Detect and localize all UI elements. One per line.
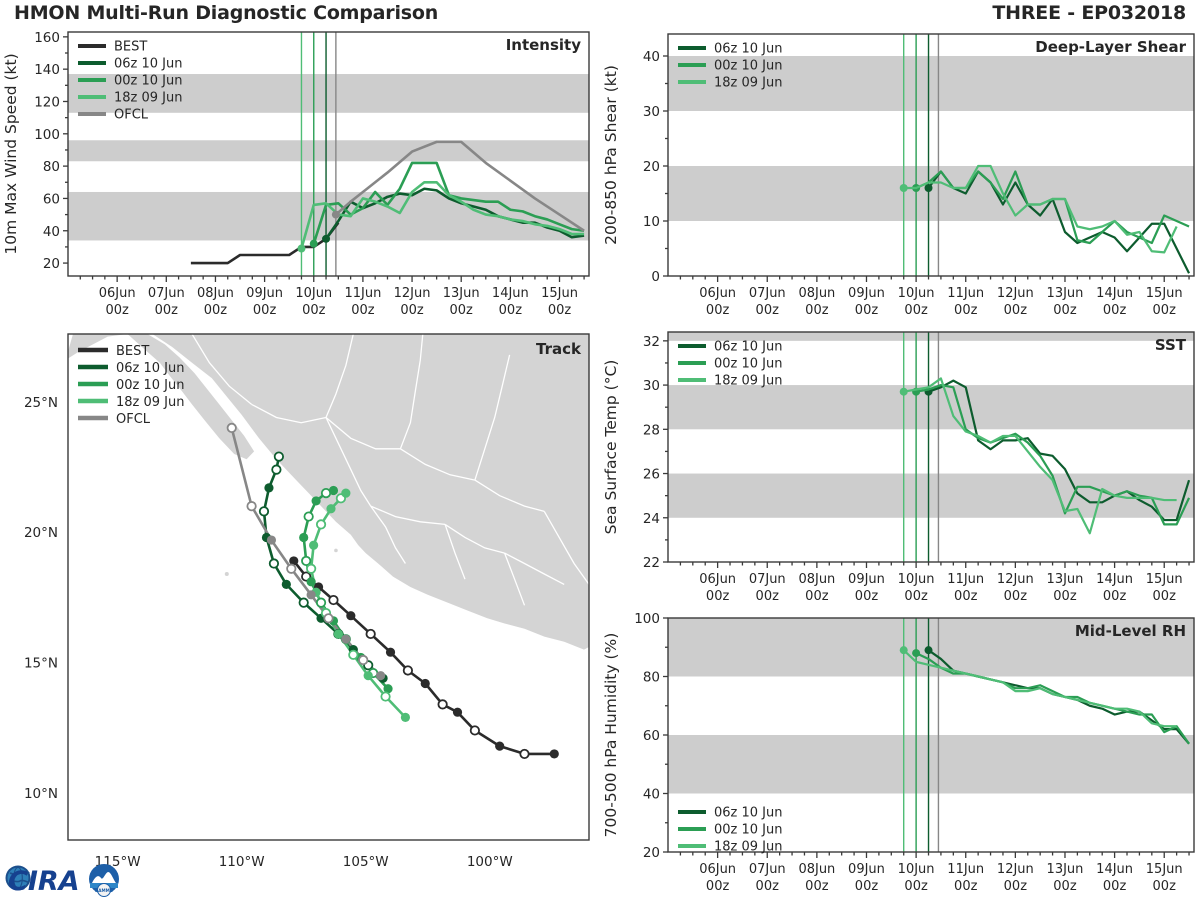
- track-marker-open: [228, 424, 236, 432]
- y-tick-label: 20: [643, 845, 660, 861]
- x-tick-label: 12Jun: [997, 572, 1034, 587]
- y-axis-label: 10m Max Wind Speed (kt): [2, 53, 20, 254]
- x-tick-label: 07Jun: [749, 286, 786, 301]
- x-tick-label: 06Jun: [699, 862, 736, 877]
- track-marker-filled: [364, 671, 373, 680]
- x-tick-label: 11Jun: [947, 286, 984, 301]
- x-tick-sublabel: 00z: [1053, 303, 1077, 318]
- track-marker-open: [272, 465, 280, 473]
- track-marker-open: [404, 666, 412, 674]
- legend-label: 00z 10 Jun: [114, 74, 183, 89]
- panel-title: SST: [1155, 336, 1187, 354]
- x-tick-sublabel: 00z: [1053, 879, 1077, 894]
- y-tick-label: 20: [643, 159, 660, 175]
- track-marker-filled: [307, 590, 316, 599]
- track-panel: 25°N20°N15°N10°N115°W110°W105°W100°WTrac…: [0, 326, 595, 886]
- lat-tick-label: 20°N: [24, 525, 58, 541]
- x-tick-label: 15Jun: [1146, 862, 1183, 877]
- x-tick-label: 07Jun: [749, 862, 786, 877]
- legend-label: 00z 10 Jun: [714, 59, 783, 74]
- x-tick-sublabel: 00z: [548, 303, 572, 318]
- cira-logo: CIRA RAMMB: [4, 852, 128, 898]
- y-axis-label: 700-500 hPa Humidity (%): [602, 633, 620, 838]
- x-tick-sublabel: 00z: [756, 879, 780, 894]
- x-tick-sublabel: 00z: [105, 303, 129, 318]
- x-tick-label: 10Jun: [295, 286, 332, 301]
- series-start-marker: [912, 649, 920, 657]
- track-marker-filled: [311, 496, 320, 505]
- track-marker-filled: [299, 533, 308, 542]
- y-tick-label: 40: [643, 49, 660, 65]
- track-marker-filled: [267, 535, 276, 544]
- x-tick-label: 08Jun: [798, 286, 835, 301]
- track-marker-open: [471, 726, 479, 734]
- y-tick-label: 26: [643, 467, 660, 483]
- legend-label: 00z 10 Jun: [714, 823, 783, 838]
- lon-tick-label: 110°W: [219, 854, 265, 870]
- y-tick-label: 40: [643, 787, 660, 803]
- x-tick-sublabel: 00z: [302, 303, 326, 318]
- page-title-right: THREE - EP032018: [992, 2, 1186, 24]
- track-marker-open: [304, 512, 312, 520]
- x-tick-label: 15Jun: [541, 286, 578, 301]
- x-tick-sublabel: 00z: [1153, 879, 1177, 894]
- series-start-marker: [925, 646, 933, 654]
- legend-label: 06z 10 Jun: [714, 806, 783, 821]
- shear-chart: 010203040200-850 hPa Shear (kt)06Jun00z0…: [596, 24, 1200, 324]
- track-marker-filled: [401, 713, 410, 722]
- x-tick-sublabel: 00z: [450, 303, 474, 318]
- rammb-badge: RAMMB: [89, 864, 119, 897]
- y-tick-label: 22: [643, 555, 660, 571]
- legend-label: OFCL: [116, 412, 151, 427]
- x-tick-label: 14Jun: [1096, 286, 1133, 301]
- x-tick-sublabel: 00z: [1103, 589, 1127, 604]
- track-marker-open: [324, 614, 332, 622]
- x-tick-label: 14Jun: [492, 286, 529, 301]
- x-tick-sublabel: 00z: [1004, 303, 1028, 318]
- track-marker-open: [317, 598, 325, 606]
- x-tick-sublabel: 00z: [805, 589, 829, 604]
- series-start-marker: [900, 646, 908, 654]
- x-tick-sublabel: 00z: [1103, 303, 1127, 318]
- track-marker-filled: [309, 541, 318, 550]
- y-tick-label: 30: [643, 378, 660, 394]
- x-tick-sublabel: 00z: [253, 303, 277, 318]
- x-tick-label: 09Jun: [848, 862, 885, 877]
- svg-text:RAMMB: RAMMB: [95, 888, 113, 893]
- y-tick-label: 120: [34, 94, 60, 110]
- lat-tick-label: 15°N: [24, 656, 58, 672]
- y-tick-label: 30: [643, 104, 660, 120]
- x-tick-label: 12Jun: [394, 286, 431, 301]
- legend-label: OFCL: [114, 108, 149, 123]
- track-marker-open: [349, 651, 357, 659]
- x-tick-label: 11Jun: [947, 862, 984, 877]
- x-tick-sublabel: 00z: [1103, 879, 1127, 894]
- track-marker-open: [307, 565, 315, 573]
- x-tick-sublabel: 00z: [706, 879, 730, 894]
- y-tick-label: 60: [643, 728, 660, 744]
- panel-title: Track: [536, 340, 582, 358]
- track-marker-filled: [341, 635, 350, 644]
- x-tick-sublabel: 00z: [954, 879, 978, 894]
- legend-label: 18z 09 Jun: [114, 91, 183, 106]
- track-marker-filled: [307, 577, 316, 586]
- track-marker-open: [520, 750, 528, 758]
- y-tick-label: 140: [34, 62, 60, 78]
- y-tick-label: 20: [43, 256, 60, 272]
- y-tick-label: 100: [634, 611, 660, 627]
- rh-panel: 20406080100700-500 hPa Humidity (%)06Jun…: [596, 610, 1200, 900]
- track-marker-open: [438, 700, 446, 708]
- cira-wordmark: CIRA: [8, 866, 80, 897]
- track-marker-open: [302, 557, 310, 565]
- legend-label: 06z 10 Jun: [714, 42, 783, 57]
- panel-title: Mid-Level RH: [1075, 622, 1186, 640]
- x-tick-label: 15Jun: [1146, 572, 1183, 587]
- island: [334, 549, 338, 553]
- legend-label: BEST: [116, 344, 149, 359]
- series-start-marker: [332, 211, 340, 219]
- x-tick-label: 06Jun: [99, 286, 136, 301]
- track-chart: 25°N20°N15°N10°N115°W110°W105°W100°WTrac…: [0, 326, 595, 886]
- y-tick-label: 80: [43, 159, 60, 175]
- x-tick-sublabel: 00z: [904, 879, 928, 894]
- x-tick-sublabel: 00z: [204, 303, 228, 318]
- y-tick-label: 100: [34, 127, 60, 143]
- x-tick-sublabel: 00z: [756, 589, 780, 604]
- track-marker-open: [366, 630, 374, 638]
- track-marker-filled: [264, 483, 273, 492]
- shaded-band: [668, 735, 1194, 794]
- x-tick-sublabel: 00z: [756, 303, 780, 318]
- legend-label: 18z 09 Jun: [714, 840, 783, 855]
- x-tick-label: 10Jun: [898, 862, 935, 877]
- series-start-marker: [925, 184, 933, 192]
- x-tick-label: 08Jun: [798, 862, 835, 877]
- x-tick-sublabel: 00z: [904, 589, 928, 604]
- x-tick-sublabel: 00z: [351, 303, 375, 318]
- sst-panel: 222426283032Sea Surface Temp (°C)06Jun00…: [596, 324, 1200, 610]
- track-marker-open: [381, 692, 389, 700]
- y-axis-label: Sea Surface Temp (°C): [602, 360, 620, 535]
- track-marker-filled: [495, 742, 504, 751]
- y-tick-label: 28: [643, 422, 660, 438]
- track-marker-open: [329, 596, 337, 604]
- track-marker-filled: [550, 749, 559, 758]
- lon-tick-label: 105°W: [343, 854, 389, 870]
- x-tick-label: 09Jun: [246, 286, 283, 301]
- x-tick-label: 07Jun: [148, 286, 185, 301]
- track-marker-filled: [376, 671, 385, 680]
- x-tick-sublabel: 00z: [855, 589, 879, 604]
- track-marker-filled: [282, 580, 291, 589]
- series-start-marker: [297, 245, 305, 253]
- track-marker-filled: [453, 708, 462, 717]
- x-tick-sublabel: 00z: [855, 303, 879, 318]
- track-marker-open: [270, 559, 278, 567]
- x-tick-sublabel: 00z: [954, 589, 978, 604]
- page-title-left: HMON Multi-Run Diagnostic Comparison: [14, 2, 438, 24]
- x-tick-label: 11Jun: [344, 286, 381, 301]
- track-marker-open: [275, 452, 283, 460]
- y-tick-label: 0: [651, 269, 660, 285]
- legend-label: 06z 10 Jun: [714, 340, 783, 355]
- legend-label: BEST: [114, 40, 147, 55]
- x-tick-label: 13Jun: [1047, 286, 1084, 301]
- x-tick-sublabel: 00z: [805, 879, 829, 894]
- y-axis-label: 200-850 hPa Shear (kt): [602, 65, 620, 245]
- sst-chart: 222426283032Sea Surface Temp (°C)06Jun00…: [596, 324, 1200, 610]
- track-marker-open: [299, 598, 307, 606]
- panel-title: Deep-Layer Shear: [1035, 38, 1186, 56]
- x-tick-label: 09Jun: [848, 572, 885, 587]
- x-tick-sublabel: 00z: [805, 303, 829, 318]
- y-tick-label: 80: [643, 670, 660, 686]
- intensity-chart: 2040608010012014016010m Max Wind Speed (…: [0, 24, 595, 324]
- x-tick-label: 14Jun: [1096, 862, 1133, 877]
- x-tick-sublabel: 00z: [954, 303, 978, 318]
- x-tick-label: 06Jun: [699, 572, 736, 587]
- track-marker-open: [359, 656, 367, 664]
- legend-label: 06z 10 Jun: [116, 361, 185, 376]
- track-marker-filled: [421, 679, 430, 688]
- x-tick-label: 13Jun: [443, 286, 480, 301]
- x-tick-label: 11Jun: [947, 572, 984, 587]
- track-marker-filled: [326, 504, 335, 513]
- series-start-marker: [900, 184, 908, 192]
- series-start-marker: [310, 240, 318, 248]
- track-marker-open: [317, 520, 325, 528]
- track-marker-filled: [346, 611, 355, 620]
- legend-label: 18z 09 Jun: [714, 374, 783, 389]
- x-tick-label: 12Jun: [997, 286, 1034, 301]
- x-tick-label: 13Jun: [1047, 862, 1084, 877]
- legend-label: 18z 09 Jun: [714, 76, 783, 91]
- x-tick-label: 06Jun: [699, 286, 736, 301]
- x-tick-sublabel: 00z: [1004, 879, 1028, 894]
- shear-panel: 010203040200-850 hPa Shear (kt)06Jun00z0…: [596, 24, 1200, 324]
- legend-label: 00z 10 Jun: [116, 378, 185, 393]
- y-tick-label: 40: [43, 224, 60, 240]
- x-tick-label: 07Jun: [749, 572, 786, 587]
- x-tick-label: 10Jun: [898, 286, 935, 301]
- x-tick-label: 13Jun: [1047, 572, 1084, 587]
- y-tick-label: 60: [43, 191, 60, 207]
- rh-chart: 20406080100700-500 hPa Humidity (%)06Jun…: [596, 610, 1200, 900]
- lat-tick-label: 10°N: [24, 786, 58, 802]
- track-marker-open: [287, 565, 295, 573]
- x-tick-sublabel: 00z: [1053, 589, 1077, 604]
- x-tick-sublabel: 00z: [155, 303, 179, 318]
- x-tick-sublabel: 00z: [855, 879, 879, 894]
- track-marker-filled: [334, 629, 343, 638]
- x-tick-label: 08Jun: [197, 286, 234, 301]
- legend-label: 18z 09 Jun: [116, 395, 185, 410]
- track-marker-filled: [386, 648, 395, 657]
- x-tick-sublabel: 00z: [706, 589, 730, 604]
- series-start-marker: [322, 235, 330, 243]
- shaded-band: [68, 140, 589, 161]
- track-marker-open: [260, 507, 268, 515]
- island: [225, 572, 229, 576]
- y-tick-label: 24: [643, 511, 660, 527]
- x-tick-sublabel: 00z: [400, 303, 424, 318]
- x-tick-sublabel: 00z: [1153, 589, 1177, 604]
- x-tick-label: 09Jun: [848, 286, 885, 301]
- x-tick-label: 14Jun: [1096, 572, 1133, 587]
- series-start-marker: [900, 388, 908, 396]
- track-marker-open: [247, 502, 255, 510]
- x-tick-sublabel: 00z: [706, 303, 730, 318]
- x-tick-sublabel: 00z: [499, 303, 523, 318]
- track-marker-filled: [341, 489, 350, 498]
- y-tick-label: 32: [643, 334, 660, 350]
- legend-label: 00z 10 Jun: [714, 357, 783, 372]
- legend-label: 06z 10 Jun: [114, 57, 183, 72]
- x-tick-label: 08Jun: [798, 572, 835, 587]
- x-tick-sublabel: 00z: [1004, 589, 1028, 604]
- x-tick-label: 12Jun: [997, 862, 1034, 877]
- x-tick-label: 10Jun: [898, 572, 935, 587]
- intensity-panel: 2040608010012014016010m Max Wind Speed (…: [0, 24, 595, 324]
- x-tick-sublabel: 00z: [1153, 303, 1177, 318]
- x-tick-label: 15Jun: [1146, 286, 1183, 301]
- lon-tick-label: 100°W: [467, 854, 513, 870]
- x-tick-sublabel: 00z: [904, 303, 928, 318]
- y-tick-label: 10: [643, 214, 660, 230]
- panel-title: Intensity: [506, 36, 582, 54]
- track-marker-filled: [329, 486, 338, 495]
- y-tick-label: 160: [34, 30, 60, 46]
- shaded-band: [668, 166, 1194, 221]
- lat-tick-label: 25°N: [24, 395, 58, 411]
